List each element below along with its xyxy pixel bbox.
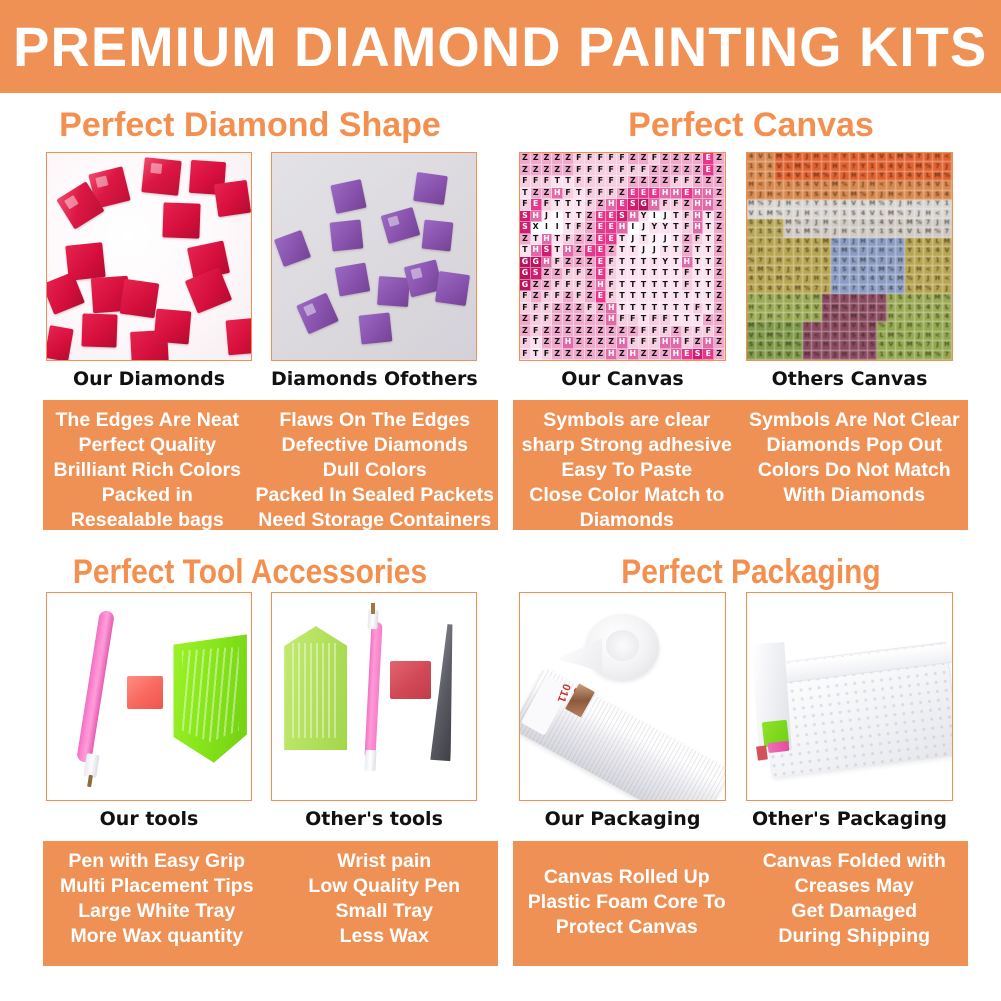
canvas-symbol-cell: 1 — [822, 200, 831, 209]
canvas-symbol-cell: F — [606, 291, 617, 303]
canvas-symbol-cell: 7 — [803, 341, 812, 350]
canvas-symbol-cell: 4 — [822, 191, 831, 200]
canvas-symbol-cell: F — [542, 199, 553, 211]
canvas-symbol-cell: 7 — [812, 285, 821, 294]
canvas-symbol-cell: 1 — [868, 162, 877, 171]
canvas-symbol-cell: Y — [660, 257, 671, 269]
canvas-symbol-cell: F — [574, 165, 585, 177]
canvas-symbol-cell: T — [563, 222, 574, 234]
canvas-symbol-cell: 7 — [850, 304, 859, 313]
canvas-symbol-cell: H — [693, 188, 704, 200]
canvas-symbol-cell: F — [693, 303, 704, 315]
canvas-symbol-cell: S — [924, 247, 933, 256]
canvas-symbol-cell: J — [775, 322, 784, 331]
canvas-symbol-cell: F — [693, 326, 704, 338]
canvas-symbol-cell: M — [775, 275, 784, 284]
canvas-symbol-cell: < — [840, 162, 849, 171]
canvas-symbol-cell: S — [905, 238, 914, 247]
canvas-symbol-cell: 1 — [840, 209, 849, 218]
text-line: Packed In Sealed Packets — [256, 483, 494, 508]
canvas-symbol-cell: H — [831, 285, 840, 294]
canvas-symbol-cell: T — [639, 257, 650, 269]
canvas-symbol-cell: % — [924, 162, 933, 171]
canvas-symbol-cell: 4 — [803, 304, 812, 313]
canvas-symbol-cell: F — [574, 222, 585, 234]
canvas-symbol-cell: < — [896, 313, 905, 322]
canvas-symbol-cell: 7 — [924, 219, 933, 228]
canvas-symbol-cell: Z — [649, 165, 660, 177]
canvas-symbol-cell: % — [784, 275, 793, 284]
canvas-symbol-cell: 1 — [766, 172, 775, 181]
canvas-symbol-cell: T — [660, 303, 671, 315]
canvas-symbol-cell: V — [831, 313, 840, 322]
canvas-symbol-cell: M — [896, 275, 905, 284]
canvas-symbol-cell: L — [766, 275, 775, 284]
canvas-symbol-cell: H — [606, 349, 617, 361]
infographic-page: PREMIUM DIAMOND PAINTING KITS Perfect Di… — [0, 0, 1001, 1001]
canvas-symbol-cell: F — [531, 314, 542, 326]
canvas-symbol-cell: % — [756, 200, 765, 209]
canvas-symbol-cell: % — [822, 172, 831, 181]
canvas-symbol-cell: ? — [784, 191, 793, 200]
canvas-symbol-cell: ? — [840, 341, 849, 350]
canvas-symbol-cell: F — [574, 291, 585, 303]
canvas-symbol-cell: H — [831, 162, 840, 171]
canvas-symbol-cell: Z — [714, 234, 725, 246]
canvas-symbol-cell: H — [775, 257, 784, 266]
canvas-symbol-cell: F — [531, 176, 542, 188]
canvas-symbol-cell: Z — [563, 153, 574, 165]
canvas-symbol-cell: J — [877, 191, 886, 200]
textcol-others-canvas: Symbols Are Not Clear Diamonds Pop Out C… — [741, 408, 969, 520]
canvas-symbol-cell: F — [552, 291, 563, 303]
canvas-symbol-cell: S — [859, 153, 868, 162]
canvas-symbol-cell: % — [812, 351, 821, 360]
canvas-symbol-cell: M — [933, 294, 942, 303]
canvas-symbol-cell: Z — [693, 153, 704, 165]
canvas-symbol-cell: H — [747, 181, 756, 190]
canvas-symbol-cell: % — [775, 209, 784, 218]
canvas-symbol-cell: F — [682, 211, 693, 223]
canvas-symbol-cell: 7 — [803, 219, 812, 228]
canvas-symbol-cell: ? — [784, 313, 793, 322]
canvas-symbol-cell: T — [703, 268, 714, 280]
text-line: Diamonds — [517, 508, 737, 533]
canvas-symbol-cell: 7 — [859, 247, 868, 256]
canvas-symbol-cell: H — [747, 304, 756, 313]
canvas-symbol-cell: V — [868, 209, 877, 218]
canvas-symbol-cell: < — [933, 332, 942, 341]
text-line: Perfect Quality — [47, 433, 248, 458]
canvas-symbol-cell: S — [933, 313, 942, 322]
canvas-symbol-cell: % — [896, 209, 905, 218]
canvas-symbol-cell: % — [915, 341, 924, 350]
canvas-symbol-cell: 1 — [756, 228, 765, 237]
canvas-symbol-cell: 4 — [766, 285, 775, 294]
canvas-symbol-cell: 1 — [943, 322, 952, 331]
canvas-symbol-cell: F — [606, 176, 617, 188]
canvas-symbol-cell: M — [831, 181, 840, 190]
canvas-symbol-cell: H — [868, 304, 877, 313]
canvas-symbol-cell: M — [766, 332, 775, 341]
canvas-symbol-cell: ? — [756, 238, 765, 247]
canvas-symbol-cell: F — [628, 314, 639, 326]
canvas-symbol-cell: 4 — [905, 172, 914, 181]
canvas-symbol-cell: 7 — [868, 313, 877, 322]
canvas-symbol-cell: 4 — [887, 285, 896, 294]
canvas-symbol-cell: F — [628, 337, 639, 349]
canvas-symbol-cell: F — [639, 326, 650, 338]
canvas-symbol-cell: T — [563, 199, 574, 211]
text-line: Flaws On The Edges — [256, 408, 494, 433]
others-tools-image — [272, 593, 476, 800]
canvas-symbol-cell: H — [682, 257, 693, 269]
canvas-symbol-cell: 7 — [822, 351, 831, 360]
canvas-symbol-cell: J — [933, 219, 942, 228]
canvas-symbol-cell: F — [660, 326, 671, 338]
canvas-symbol-cell: % — [943, 172, 952, 181]
canvas-symbol-cell: Z — [531, 291, 542, 303]
canvas-symbol-cell: Z — [671, 165, 682, 177]
canvas-symbol-cell: M — [877, 266, 886, 275]
canvas-symbol-cell: L — [775, 219, 784, 228]
canvas-symbol-cell: T — [671, 234, 682, 246]
canvas-symbol-cell: < — [943, 153, 952, 162]
canvas-symbol-cell: F — [682, 176, 693, 188]
canvas-symbol-cell: L — [868, 266, 877, 275]
canvas-symbol-cell: Z — [596, 314, 607, 326]
canvas-symbol-cell: % — [794, 341, 803, 350]
canvas-symbol-cell: % — [868, 257, 877, 266]
canvas-symbol-cell: H — [756, 247, 765, 256]
canvas-symbol-cell: J — [812, 219, 821, 228]
canvas-symbol-cell: T — [574, 211, 585, 223]
canvas-symbol-cell: < — [766, 247, 775, 256]
canvas-symbol-cell: 7 — [775, 266, 784, 275]
canvas-symbol-cell: F — [671, 199, 682, 211]
canvas-symbol-cell: 7 — [887, 200, 896, 209]
canvas-symbol-cell: 1 — [747, 285, 756, 294]
canvas-symbol-cell: F — [563, 280, 574, 292]
canvas-symbol-cell: J — [639, 222, 650, 234]
canvas-symbol-cell: ? — [924, 322, 933, 331]
canvas-symbol-cell: 1 — [915, 247, 924, 256]
text-line: Diamonds Pop Out — [745, 433, 965, 458]
canvas-symbol-cell: ? — [905, 191, 914, 200]
canvas-symbol-cell: ? — [747, 172, 756, 181]
canvas-symbol-cell: F — [520, 349, 531, 361]
canvas-symbol-cell: L — [822, 304, 831, 313]
canvas-symbol-cell: F — [520, 176, 531, 188]
canvas-symbol-cell: G — [520, 257, 531, 269]
canvas-symbol-cell: T — [693, 257, 704, 269]
canvas-symbol-cell: F — [596, 165, 607, 177]
canvas-symbol-cell: M — [924, 228, 933, 237]
canvas-symbol-cell: Z — [693, 176, 704, 188]
canvas-symbol-cell: Z — [671, 153, 682, 165]
canvas-symbol-cell: J — [803, 275, 812, 284]
canvas-symbol-cell: 4 — [812, 247, 821, 256]
canvas-symbol-cell: F — [628, 165, 639, 177]
canvas-symbol-cell: F — [649, 153, 660, 165]
canvas-symbol-cell: J — [933, 341, 942, 350]
canvas-symbol-cell: T — [531, 337, 542, 349]
canvas-symbol-cell: E — [649, 188, 660, 200]
canvas-symbol-cell: J — [628, 234, 639, 246]
canvas-symbol-cell: T — [703, 211, 714, 223]
canvas-symbol-cell: L — [896, 219, 905, 228]
canvas-symbol-cell: Z — [703, 314, 714, 326]
canvas-symbol-cell: F — [671, 176, 682, 188]
canvas-symbol-cell: H — [850, 294, 859, 303]
canvas-symbol-cell: F — [606, 257, 617, 269]
canvas-symbol-cell: E — [628, 188, 639, 200]
canvas-symbol-cell: J — [747, 247, 756, 256]
canvas-symbol-cell: 4 — [831, 257, 840, 266]
canvas-symbol-cell: 4 — [905, 294, 914, 303]
canvas-symbol-cell: ? — [747, 294, 756, 303]
canvas-symbol-cell: Y — [831, 209, 840, 218]
text-line: More Wax quantity — [47, 924, 267, 949]
canvas-symbol-cell: H — [542, 257, 553, 269]
canvas-symbol-cell: Z — [693, 165, 704, 177]
canvas-symbol-cell: Z — [714, 291, 725, 303]
canvas-symbol-cell: < — [933, 209, 942, 218]
canvas-symbol-cell: Z — [563, 257, 574, 269]
canvas-symbol-cell: F — [649, 314, 660, 326]
canvas-symbol-cell: J — [887, 257, 896, 266]
canvas-symbol-cell: 7 — [822, 228, 831, 237]
canvas-symbol-cell: V — [933, 181, 942, 190]
canvas-symbol-cell: J — [660, 234, 671, 246]
canvas-symbol-cell: M — [868, 200, 877, 209]
canvas-symbol-cell: Z — [563, 349, 574, 361]
canvas-symbol-cell: L — [905, 285, 914, 294]
canvas-symbol-cell: T — [628, 291, 639, 303]
canvas-symbol-cell: 1 — [850, 275, 859, 284]
canvas-symbol-cell: M — [905, 341, 914, 350]
canvas-symbol-cell: Z — [714, 153, 725, 165]
canvas-symbol-cell: 4 — [756, 341, 765, 350]
canvas-symbol-cell: F — [606, 280, 617, 292]
canvas-symbol-cell: Y — [747, 228, 756, 237]
canvas-symbol-cell: Z — [563, 314, 574, 326]
photo-others-packaging — [746, 592, 953, 801]
canvas-symbol-cell: F — [563, 268, 574, 280]
canvas-symbol-cell: ? — [850, 285, 859, 294]
canvas-symbol-cell: F — [552, 257, 563, 269]
canvas-symbol-cell: F — [520, 199, 531, 211]
canvas-symbol-cell: < — [850, 228, 859, 237]
canvas-symbol-cell: L — [887, 275, 896, 284]
canvas-symbol-cell: Y — [943, 266, 952, 275]
canvas-symbol-cell: T — [628, 257, 639, 269]
canvas-symbol-cell: < — [943, 275, 952, 284]
canvas-symbol-cell: S — [915, 304, 924, 313]
canvas-symbol-cell: V — [812, 181, 821, 190]
canvas-symbol-cell: 7 — [924, 341, 933, 350]
canvas-symbol-cell: J — [859, 304, 868, 313]
canvas-symbol-cell: 1 — [747, 162, 756, 171]
canvas-symbol-cell: E — [639, 188, 650, 200]
canvas-symbol-cell: E — [585, 245, 596, 257]
canvas-symbol-cell: T — [574, 188, 585, 200]
canvas-symbol-cell: H — [628, 349, 639, 361]
canvas-symbol-cell: Z — [552, 349, 563, 361]
caption-our-packaging: Our Packaging — [519, 808, 726, 830]
pink-pen — [364, 622, 382, 759]
canvas-symbol-cell: 7 — [794, 153, 803, 162]
canvas-symbol-cell: Z — [563, 326, 574, 338]
canvas-symbol-cell: 1 — [803, 191, 812, 200]
canvas-symbol-cell: L — [831, 247, 840, 256]
canvas-symbol-cell: L — [794, 351, 803, 360]
canvas-symbol-cell: % — [803, 162, 812, 171]
canvas-symbol-cell: M — [784, 341, 793, 350]
canvas-symbol-cell: Z — [596, 303, 607, 315]
canvas-symbol-cell: < — [794, 200, 803, 209]
canvas-symbol-cell: 4 — [896, 351, 905, 360]
canvas-symbol-cell: F — [542, 291, 553, 303]
text-line: Pen with Easy Grip — [47, 849, 267, 874]
canvas-symbol-cell: < — [868, 238, 877, 247]
canvas-symbol-cell: < — [822, 153, 831, 162]
canvas-symbol-cell: Z — [574, 314, 585, 326]
canvas-symbol-cell: G — [520, 268, 531, 280]
canvas-symbol-cell: L — [794, 228, 803, 237]
canvas-symbol-cell: T — [617, 245, 628, 257]
canvas-symbol-cell: Z — [714, 337, 725, 349]
canvas-symbol-cell: Y — [859, 162, 868, 171]
canvas-symbol-cell: H — [803, 332, 812, 341]
canvas-symbol-cell: Z — [682, 165, 693, 177]
text-line: Protect Canvas — [517, 915, 737, 940]
canvas-symbol-cell: M — [812, 172, 821, 181]
canvas-symbol-cell: V — [943, 247, 952, 256]
canvas-symbol-cell: S — [628, 199, 639, 211]
canvas-symbol-cell: S — [747, 341, 756, 350]
canvas-symbol-cell: H — [887, 191, 896, 200]
canvas-symbol-cell: T — [531, 349, 542, 361]
canvas-symbol-cell: % — [766, 266, 775, 275]
canvas-symbol-cell: ? — [850, 162, 859, 171]
canvas-symbol-cell: % — [915, 219, 924, 228]
photo-our-tools — [46, 592, 252, 801]
canvas-symbol-cell: 4 — [933, 247, 942, 256]
canvas-symbol-cell: 1 — [812, 257, 821, 266]
canvas-symbol-cell: S — [831, 200, 840, 209]
canvas-symbol-cell: Y — [896, 304, 905, 313]
canvas-symbol-cell: M — [794, 162, 803, 171]
canvas-symbol-cell: Y — [812, 200, 821, 209]
canvas-symbol-cell: Z — [585, 222, 596, 234]
canvas-symbol-cell: V — [915, 172, 924, 181]
canvas-symbol-cell: ? — [877, 238, 886, 247]
canvas-symbol-cell: J — [766, 257, 775, 266]
canvas-symbol-cell: 4 — [756, 219, 765, 228]
bubble-mailer-image — [747, 593, 952, 800]
canvas-symbol-cell: 4 — [803, 181, 812, 190]
canvas-symbol-cell: 1 — [859, 219, 868, 228]
canvas-symbol-cell: H — [766, 313, 775, 322]
canvas-symbol-cell: Z — [682, 153, 693, 165]
canvas-symbol-cell: J — [915, 332, 924, 341]
canvas-symbol-cell: Z — [639, 176, 650, 188]
canvas-symbol-cell: T — [682, 314, 693, 326]
canvas-symbol-cell: < — [915, 200, 924, 209]
canvas-symbol-cell: H — [924, 332, 933, 341]
canvas-symbol-cell: < — [747, 238, 756, 247]
canvas-symbol-cell: G — [520, 280, 531, 292]
canvas-symbol-cell: L — [756, 332, 765, 341]
canvas-symbol-cell: L — [784, 285, 793, 294]
canvas-symbol-cell: M — [747, 322, 756, 331]
canvas-symbol-cell: S — [520, 211, 531, 223]
text-line: Large White Tray — [47, 899, 267, 924]
canvas-symbol-cell: T — [660, 268, 671, 280]
canvas-symbol-cell: T — [649, 257, 660, 269]
canvas-symbol-cell: V — [887, 219, 896, 228]
canvas-symbol-cell: Y — [756, 172, 765, 181]
canvas-symbol-cell: 1 — [850, 153, 859, 162]
canvas-symbol-cell: < — [877, 304, 886, 313]
canvas-symbol-cell: 7 — [766, 200, 775, 209]
canvas-symbol-cell: V — [775, 285, 784, 294]
canvas-symbol-cell: ? — [905, 313, 914, 322]
canvas-symbol-cell: Z — [552, 153, 563, 165]
canvas-symbol-cell: V — [831, 191, 840, 200]
canvas-symbol-cell: Z — [585, 280, 596, 292]
canvas-symbol-cell: L — [877, 209, 886, 218]
canvas-symbol-cell: Z — [563, 303, 574, 315]
canvas-symbol-cell: H — [868, 181, 877, 190]
canvas-symbol-cell: % — [896, 332, 905, 341]
canvas-symbol-cell: S — [850, 209, 859, 218]
canvas-symbol-cell: Z — [574, 303, 585, 315]
canvas-symbol-cell: ? — [887, 304, 896, 313]
text-line: Close Color Match to — [517, 483, 737, 508]
canvas-symbol-cell: 1 — [877, 351, 886, 360]
canvas-symbol-cell: L — [924, 294, 933, 303]
canvas-symbol-cell: T — [628, 280, 639, 292]
canvas-symbol-cell: 7 — [905, 209, 914, 218]
canvas-symbol-cell: T — [693, 314, 704, 326]
canvas-symbol-cell: T — [693, 268, 704, 280]
canvas-symbol-cell: S — [822, 257, 831, 266]
canvas-symbol-cell: L — [803, 172, 812, 181]
canvas-symbol-cell: 4 — [868, 153, 877, 162]
canvas-symbol-cell: 4 — [840, 200, 849, 209]
canvas-symbol-cell: T — [682, 303, 693, 315]
canvas-symbol-cell: M — [896, 153, 905, 162]
clear-symbol-canvas-image: ZZZZZFFFFFZZFZZZZEZZZZZZFFFFFFFZZZZZEZFF… — [520, 153, 725, 360]
canvas-symbol-cell: Y — [794, 191, 803, 200]
canvas-symbol-cell: F — [542, 314, 553, 326]
text-line: Packed in — [47, 483, 248, 508]
canvas-symbol-cell: M — [850, 191, 859, 200]
canvas-symbol-cell: 7 — [831, 172, 840, 181]
canvas-symbol-cell: F — [703, 326, 714, 338]
canvas-symbol-cell: Z — [552, 268, 563, 280]
canvas-symbol-cell: 7 — [812, 162, 821, 171]
canvas-symbol-cell: T — [639, 268, 650, 280]
canvas-symbol-cell: M — [756, 266, 765, 275]
canvas-symbol-cell: M — [915, 162, 924, 171]
canvas-symbol-cell: L — [756, 209, 765, 218]
canvas-symbol-cell: V — [766, 219, 775, 228]
canvas-symbol-cell: 7 — [877, 257, 886, 266]
canvas-symbol-cell: V — [887, 341, 896, 350]
